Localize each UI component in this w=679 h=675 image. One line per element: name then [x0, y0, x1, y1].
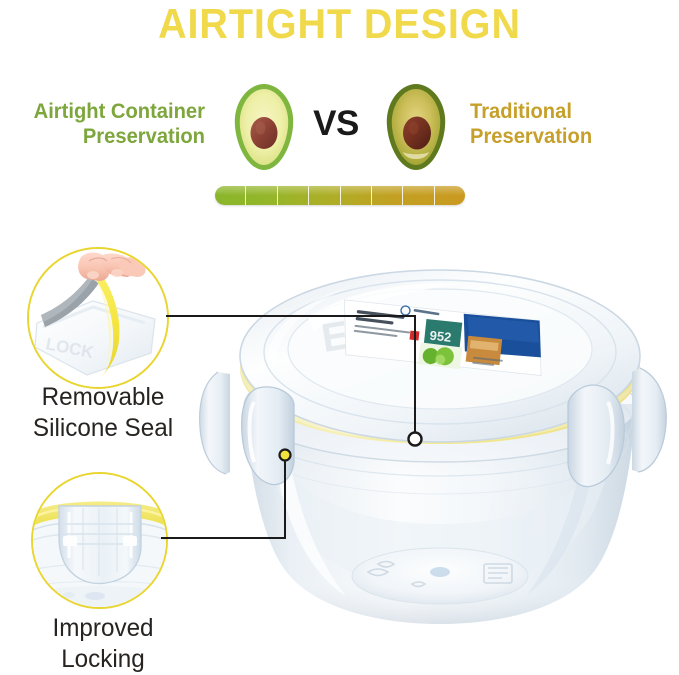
- page-title: AIRTIGHT DESIGN: [20, 2, 658, 46]
- comparison-label-airtight-line2: Preservation: [8, 125, 205, 150]
- freshness-bar-segment: [309, 186, 340, 205]
- svg-text:952: 952: [429, 328, 452, 345]
- callout-caption-improved-locking: Improved Locking: [11, 613, 195, 674]
- versus-label: VS: [300, 104, 372, 144]
- container-base-embossing: [352, 548, 528, 604]
- comparison-label-airtight-line1: Airtight Container: [8, 100, 205, 125]
- comparison-label-traditional-line2: Preservation: [470, 125, 671, 150]
- freshness-gradient-bar: [215, 186, 465, 205]
- freshness-bar-segment: [341, 186, 372, 205]
- side-latch-left: [242, 387, 294, 485]
- side-latch-closeup-icon: [33, 474, 166, 607]
- callout-caption-line1: Improved: [11, 613, 195, 644]
- freshness-bar-segment: [403, 186, 434, 205]
- freshness-bar-segment: [278, 186, 309, 205]
- freshness-bar-segment: [372, 186, 403, 205]
- callout-improved-locking: [31, 472, 168, 609]
- side-latch-far-right: [632, 368, 666, 472]
- freshness-bar-segment: [435, 186, 465, 205]
- fresh-avocado-icon: [232, 83, 296, 171]
- comparison-label-airtight: Airtight Container Preservation: [8, 100, 205, 150]
- hand-peeling-seal-icon: LOCK: [29, 249, 167, 387]
- comparison-label-traditional: Traditional Preservation: [470, 100, 671, 150]
- freshness-bar-segment: [246, 186, 277, 205]
- side-latch-far-left: [200, 372, 230, 474]
- callout-caption-line2: Silicone Seal: [11, 413, 195, 444]
- callout-removable-silicone-seal: LOCK: [27, 247, 169, 389]
- product-photo-airtight-container: EASY 952: [196, 256, 679, 628]
- browned-avocado-icon: [384, 83, 448, 171]
- infographic-canvas: AIRTIGHT DESIGN Airtight Container Prese…: [0, 0, 679, 675]
- callout-caption-removable-silicone-seal: Removable Silicone Seal: [11, 382, 195, 443]
- freshness-bar-segment: [215, 186, 246, 205]
- callout-caption-line1: Removable: [11, 382, 195, 413]
- comparison-label-traditional-line1: Traditional: [470, 100, 671, 125]
- callout-caption-line2: Locking: [11, 644, 195, 675]
